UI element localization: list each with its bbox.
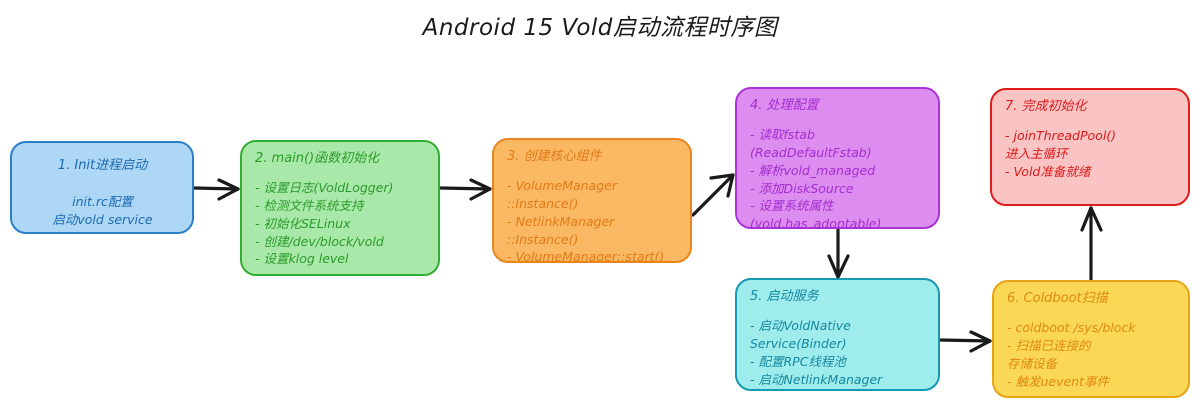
flow-node-1-init-process[interactable]: 1. Init进程启动 init.rc配置 启动vold service [10,141,194,234]
node-5-line-4: - 启动NetlinkManager [750,371,926,389]
edge-node6-to-node7 [1082,208,1101,279]
node-3-line-4: ::Instance() [507,231,678,249]
node-6-line-3: 存储设备 [1007,355,1176,373]
node-6-header: 6. Coldboot扫描 [1007,290,1176,308]
node-4-line-3: - 解析vold_managed [750,162,926,180]
node-2-line-2: - 检测文件系统支持 [255,197,426,215]
node-1-line-1: init.rc配置 [25,193,180,211]
node-5-line-5: (监听uevent) [750,388,926,391]
node-5-header: 5. 启动服务 [750,288,926,306]
node-2-line-5: - 设置klog level [255,250,426,268]
edge-node3-to-node4 [693,175,733,215]
page-title: Android 15 Vold启动流程时序图 [0,8,1200,42]
node-3-line-5: - VolumeManager::start() [507,248,678,263]
node-6-line-1: - coldboot /sys/block [1007,319,1176,337]
node-2-line-3: - 初始化SELinux [255,215,426,233]
node-3-line-3: - NetlinkManager [507,213,678,231]
flow-node-3-create-core-components[interactable]: 3. 创建核心组件 - VolumeManager ::Instance() -… [492,138,692,263]
flow-node-5-start-services[interactable]: 5. 启动服务 - 启动VoldNative Service(Binder) -… [735,278,940,391]
node-3-line-1: - VolumeManager [507,177,678,195]
edge-node1-to-node2 [194,180,238,199]
node-2-line-1: - 设置日志(VoldLogger) [255,179,426,197]
node-3-line-2: ::Instance() [507,195,678,213]
node-5-line-1: - 启动VoldNative [750,317,926,335]
node-4-line-2: (ReadDefaultFstab) [750,144,926,162]
node-2-line-4: - 创建/dev/block/vold [255,233,426,251]
edge-node4-to-node5 [829,230,848,277]
flow-node-6-coldboot-scan[interactable]: 6. Coldboot扫描 - coldboot /sys/block - 扫描… [992,280,1190,398]
node-7-line-1: - joinThreadPool() [1005,127,1176,145]
node-7-header: 7. 完成初始化 [1005,98,1176,116]
node-4-header: 4. 处理配置 [750,97,926,115]
flow-node-2-main-init[interactable]: 2. main()函数初始化 - 设置日志(VoldLogger) - 检测文件… [240,140,440,276]
node-4-line-5: - 设置系统属性 [750,197,926,215]
node-3-header: 3. 创建核心组件 [507,148,678,166]
node-2-header: 2. main()函数初始化 [255,150,426,168]
node-6-line-4: - 触发uevent事件 [1007,373,1176,391]
node-6-line-2: - 扫描已连接的 [1007,337,1176,355]
flow-node-4-process-config[interactable]: 4. 处理配置 - 读取fstab (ReadDefaultFstab) - 解… [735,87,940,229]
node-7-line-2: 进入主循环 [1005,145,1176,163]
node-4-line-6: (vold.has_adoptable) [750,215,926,229]
node-4-line-4: - 添加DiskSource [750,180,926,198]
node-5-line-3: - 配置RPC线程池 [750,353,926,371]
edge-node2-to-node3 [441,180,490,199]
node-4-line-1: - 读取fstab [750,126,926,144]
node-5-line-2: Service(Binder) [750,335,926,353]
node-1-header: 1. Init进程启动 [25,157,180,175]
flow-node-7-finish-init[interactable]: 7. 完成初始化 - joinThreadPool() 进入主循环 - Vold… [990,88,1190,206]
edge-node5-to-node6 [941,332,990,351]
node-7-line-3: - Vold准备就绪 [1005,163,1176,181]
node-1-line-2: 启动vold service [25,211,180,229]
